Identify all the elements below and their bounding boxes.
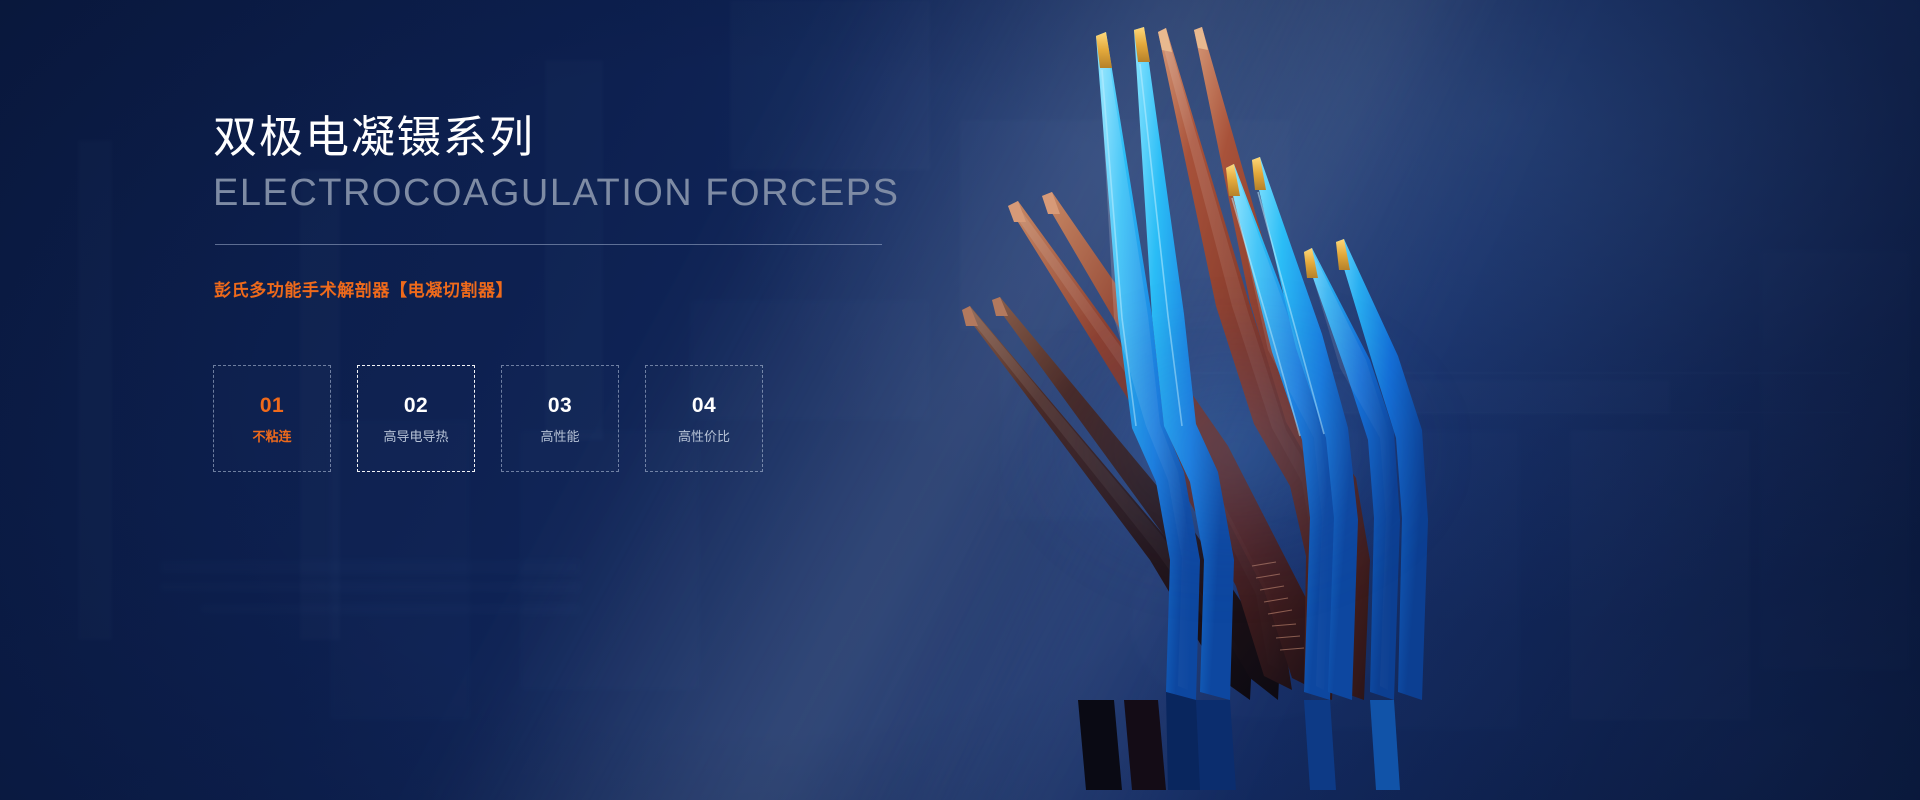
product-banner: 双极电凝镊系列 ELECTROCOAGULATION FORCEPS 彭氏多功能… — [0, 0, 1920, 800]
feature-box-04[interactable]: 04 高性价比 — [645, 365, 763, 472]
feature-number: 01 — [260, 395, 284, 416]
product-glow — [1020, 300, 1450, 600]
feature-number: 03 — [548, 395, 572, 416]
feature-box-03[interactable]: 03 高性能 — [501, 365, 619, 472]
page-title: 双极电凝镊系列 — [213, 113, 535, 164]
forceps-product-image — [900, 0, 1520, 800]
banner-content: 双极电凝镊系列 ELECTROCOAGULATION FORCEPS 彭氏多功能… — [213, 0, 993, 800]
feature-label: 高导电导热 — [383, 430, 448, 443]
feature-label: 不粘连 — [252, 430, 291, 443]
feature-number: 04 — [692, 395, 716, 416]
product-tagline: 彭氏多功能手术解剖器【电凝切割器】 — [214, 276, 513, 301]
feature-box-02[interactable]: 02 高导电导热 — [357, 365, 475, 472]
forceps-handles — [1078, 692, 1400, 790]
feature-label: 高性价比 — [678, 430, 730, 443]
feature-label: 高性能 — [540, 430, 579, 443]
feature-box-01[interactable]: 01 不粘连 — [213, 365, 331, 472]
feature-number: 02 — [404, 395, 428, 416]
page-subtitle-en: ELECTROCOAGULATION FORCEPS — [213, 172, 900, 216]
title-divider — [215, 244, 882, 245]
feature-list: 01 不粘连 02 高导电导热 03 高性能 04 高性价比 — [213, 365, 789, 472]
